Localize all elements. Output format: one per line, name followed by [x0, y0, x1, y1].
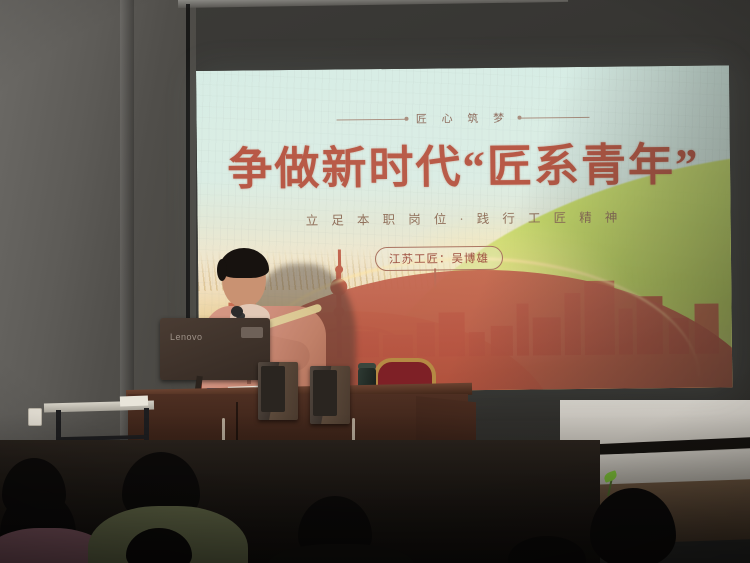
slide-eyebrow-text: 匠 心 筑 梦 — [416, 110, 510, 127]
monitor-port-panel — [241, 327, 263, 338]
eyebrow-rule-right — [519, 116, 589, 118]
screen-mount-rail — [186, 4, 190, 334]
badge-pointer-stem — [434, 268, 436, 290]
speaker-grill — [313, 370, 337, 416]
presentation-room-photo: 匠 心 筑 梦 争做新时代“匠系青年” 立 足 本 职 岗 位 · 践 行 工 … — [0, 0, 750, 563]
speaker-grill — [261, 366, 285, 412]
desktop-speaker-right — [310, 366, 350, 424]
desktop-speaker-left — [258, 362, 298, 420]
pearl-tower-spire — [337, 249, 340, 271]
eyebrow-rule-left — [337, 118, 407, 120]
side-table-paper — [120, 396, 148, 407]
lenovo-logo: Lenovo — [170, 332, 203, 342]
presenter-hair — [219, 248, 269, 278]
microphone-head — [231, 306, 243, 317]
wall-power-outlet[interactable] — [28, 408, 42, 426]
slide-title: 争做新时代“匠系青年” — [197, 127, 731, 198]
speaker-name-badge: 江苏工匠：吴博雄 — [375, 246, 503, 271]
lenovo-monitor: Lenovo — [160, 318, 270, 380]
